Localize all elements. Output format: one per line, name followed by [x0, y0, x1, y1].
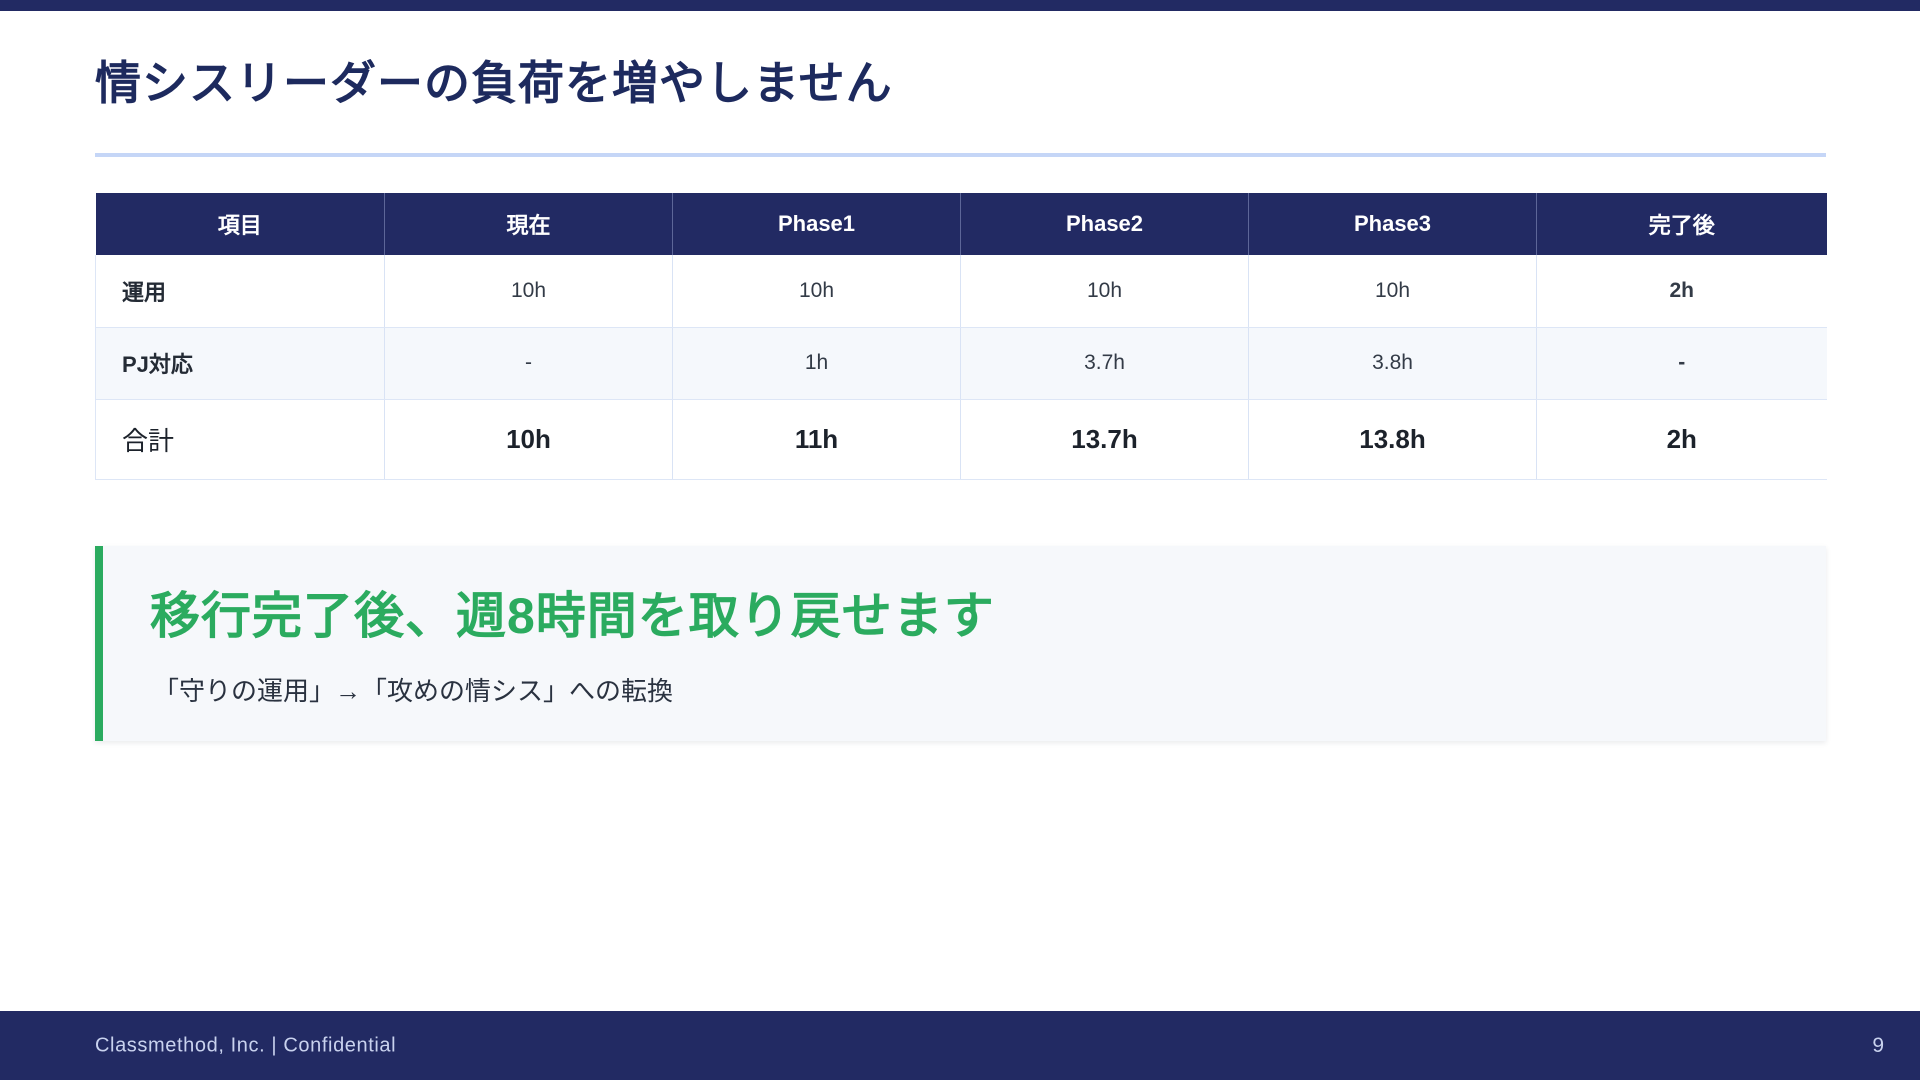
callout-box: 移行完了後、週8時間を取り戻せます 「守りの運用」→「攻めの情シス」への転換	[95, 546, 1826, 741]
row-cell-phase1: 1h	[673, 327, 961, 399]
load-comparison-table-wrapper: 項目 現在 Phase1 Phase2 Phase3 完了後 運用 10h 10…	[95, 193, 1826, 480]
row-cell-phase3: 13.8h	[1249, 399, 1537, 479]
row-label: PJ対応	[96, 327, 385, 399]
row-cell-phase2: 13.7h	[961, 399, 1249, 479]
table-header-phase1: Phase1	[673, 193, 961, 255]
table-header-current: 現在	[385, 193, 673, 255]
row-cell-phase2: 3.7h	[961, 327, 1249, 399]
table-header-after: 完了後	[1537, 193, 1827, 255]
callout-accent-bar	[95, 546, 103, 741]
table-row: PJ対応 - 1h 3.7h 3.8h -	[96, 327, 1827, 399]
table-row-total: 合計 10h 11h 13.7h 13.8h 2h	[96, 399, 1827, 479]
title-divider	[95, 153, 1826, 157]
row-cell-current: 10h	[385, 399, 673, 479]
slide-body: 情シスリーダーの負荷を増やしません 項目 現在 Phase1 Phase2 Ph…	[0, 11, 1920, 1022]
row-cell-current: -	[385, 327, 673, 399]
footer-confidential-text: Classmethod, Inc. | Confidential	[95, 1034, 396, 1057]
callout-subtext: 「守りの運用」→「攻めの情シス」への転換	[153, 671, 673, 708]
slide-footer: Classmethod, Inc. | Confidential 9	[0, 1011, 1920, 1080]
top-accent-bar	[0, 0, 1920, 11]
table-row: 運用 10h 10h 10h 10h 2h	[96, 255, 1827, 327]
row-cell-phase3: 3.8h	[1249, 327, 1537, 399]
row-cell-after: -	[1537, 327, 1827, 399]
table-header-phase3: Phase3	[1249, 193, 1537, 255]
table-header-row: 項目 現在 Phase1 Phase2 Phase3 完了後	[96, 193, 1827, 255]
row-label: 合計	[96, 399, 385, 479]
row-label: 運用	[96, 255, 385, 327]
row-cell-phase1: 10h	[673, 255, 961, 327]
page-title: 情シスリーダーの負荷を増やしません	[95, 56, 893, 111]
row-cell-phase1: 11h	[673, 399, 961, 479]
row-cell-current: 10h	[385, 255, 673, 327]
row-cell-after: 2h	[1537, 255, 1827, 327]
footer-page-number: 9	[1872, 1034, 1884, 1058]
table-header-phase2: Phase2	[961, 193, 1249, 255]
row-cell-phase2: 10h	[961, 255, 1249, 327]
row-cell-after: 2h	[1537, 399, 1827, 479]
table-header-item: 項目	[96, 193, 385, 255]
row-cell-phase3: 10h	[1249, 255, 1537, 327]
callout-heading: 移行完了後、週8時間を取り戻せます	[150, 576, 995, 648]
load-comparison-table: 項目 現在 Phase1 Phase2 Phase3 完了後 運用 10h 10…	[95, 193, 1827, 480]
